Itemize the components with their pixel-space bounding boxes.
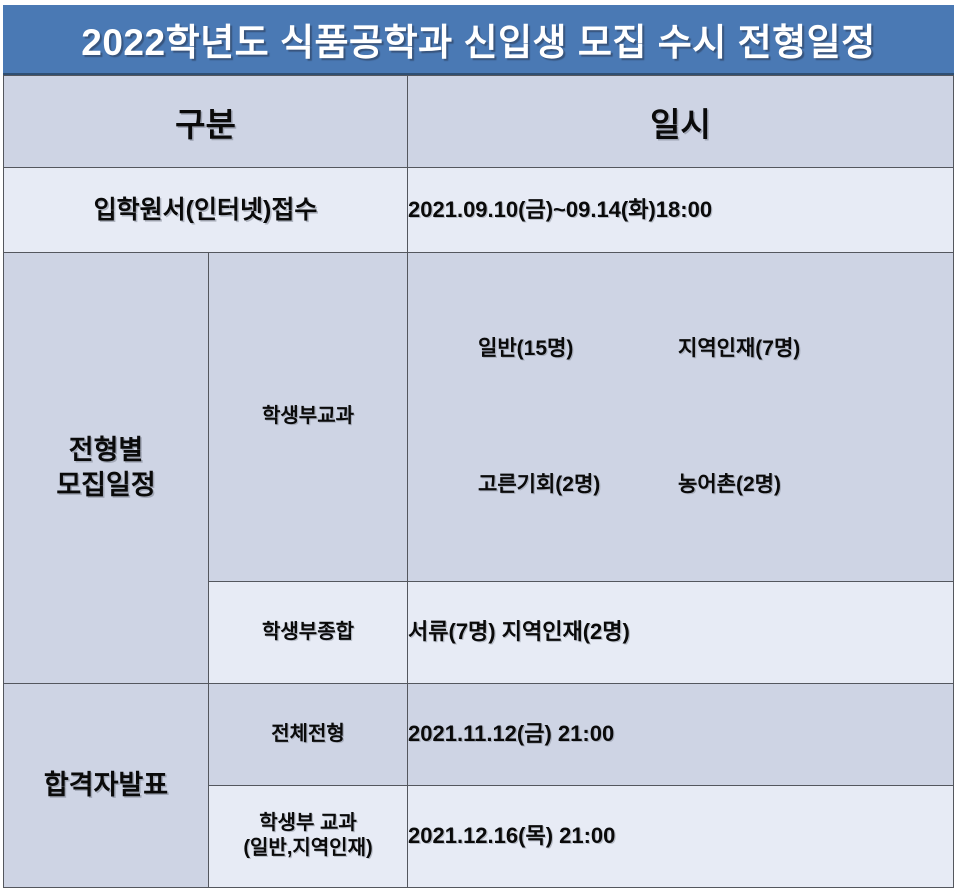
quota-equal-opportunity: 고른기회(2명)	[478, 471, 678, 498]
column-header-category: 구분	[4, 76, 408, 168]
quota-rural: 농어촌(2명)	[678, 473, 781, 496]
table-row: 합격자발표 전체전형 2021.11.12(금) 21:00	[4, 683, 954, 785]
row-label-line1: 전형별	[69, 435, 144, 465]
row-value-application-period: 2021.09.10(금)~09.14(화)18:00	[408, 168, 954, 253]
subrow-label-line2: (일반,지역인재)	[243, 837, 372, 859]
admission-schedule-page: 2022학년도 식품공학과 신입생 모집 수시 전형일정 구분 일시 입학원서(…	[0, 0, 960, 674]
page-title-banner: 2022학년도 식품공학과 신입생 모집 수시 전형일정	[3, 5, 954, 75]
table-row: 전형별 모집일정 학생부교과 일반(15명)지역인재(7명) 고른기회(2명)농…	[4, 253, 954, 582]
row-value-all-types-date: 2021.11.12(금) 21:00	[408, 683, 954, 785]
row-value-subject-based-general-date: 2021.12.16(목) 21:00	[408, 785, 954, 887]
subrow-label-line1: 학생부 교과	[259, 812, 357, 834]
subrow-label-all-types: 전체전형	[209, 683, 408, 785]
page-title: 2022학년도 식품공학과 신입생 모집 수시 전형일정	[81, 12, 875, 66]
table-header-row: 구분 일시	[4, 76, 954, 168]
quota-line-1: 일반(15명)지역인재(7명)	[408, 308, 953, 390]
quota-line-2: 고른기회(2명)농어촌(2명)	[408, 444, 953, 526]
subrow-label-subject-based: 학생부교과	[209, 253, 408, 582]
row-label-recruitment-schedule: 전형별 모집일정	[4, 253, 209, 684]
subrow-label-comprehensive: 학생부종합	[209, 581, 408, 683]
row-value-subject-based-quotas: 일반(15명)지역인재(7명) 고른기회(2명)농어촌(2명)	[408, 253, 954, 582]
table-row: 입학원서(인터넷)접수 2021.09.10(금)~09.14(화)18:00	[4, 168, 954, 253]
row-label-result-announcement: 합격자발표	[4, 683, 209, 887]
row-label-line2: 모집일정	[56, 470, 155, 500]
row-label-application: 입학원서(인터넷)접수	[4, 168, 408, 253]
quota-general: 일반(15명)	[478, 335, 678, 362]
schedule-table: 구분 일시 입학원서(인터넷)접수 2021.09.10(금)~09.14(화)…	[3, 75, 954, 888]
column-header-datetime: 일시	[408, 76, 954, 168]
subrow-label-subject-based-general: 학생부 교과 (일반,지역인재)	[209, 785, 408, 887]
quota-local-talent: 지역인재(7명)	[678, 337, 800, 360]
row-value-comprehensive-quotas: 서류(7명) 지역인재(2명)	[408, 581, 954, 683]
